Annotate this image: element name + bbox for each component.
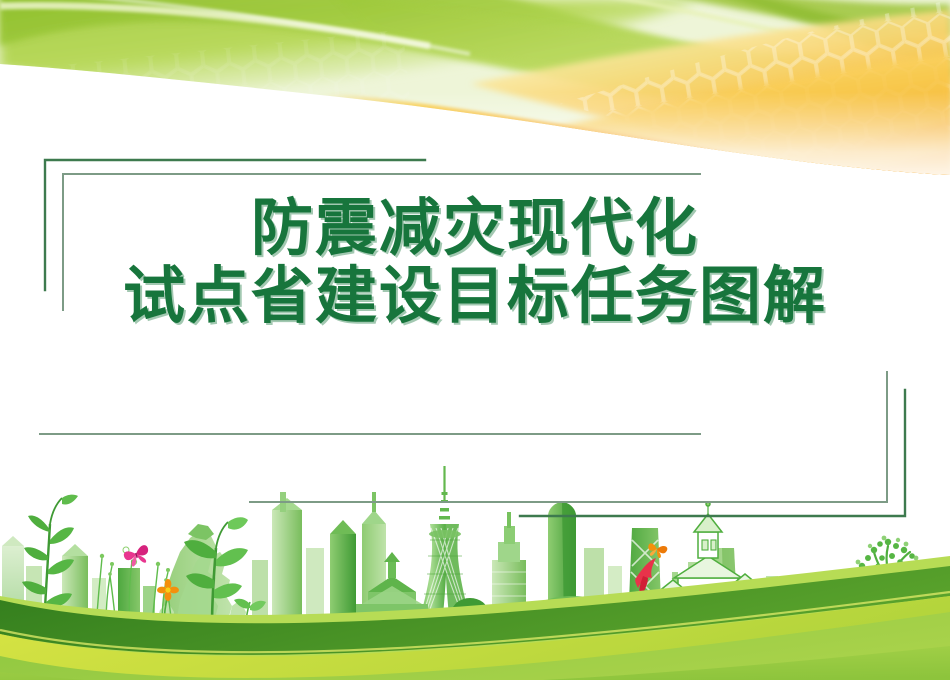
title-line-1: 防震减灾现代化: [0, 196, 950, 260]
poster-canvas: 防震减灾现代化 试点省建设目标任务图解: [0, 0, 950, 680]
poster-title: 防震减灾现代化 试点省建设目标任务图解: [0, 196, 950, 329]
decorative-frame: [0, 0, 950, 680]
frame-corner-bottom-right-outer: [520, 390, 905, 516]
frame-corner-bottom-right-inner: [250, 372, 887, 502]
title-line-2: 试点省建设目标任务图解: [0, 264, 950, 328]
